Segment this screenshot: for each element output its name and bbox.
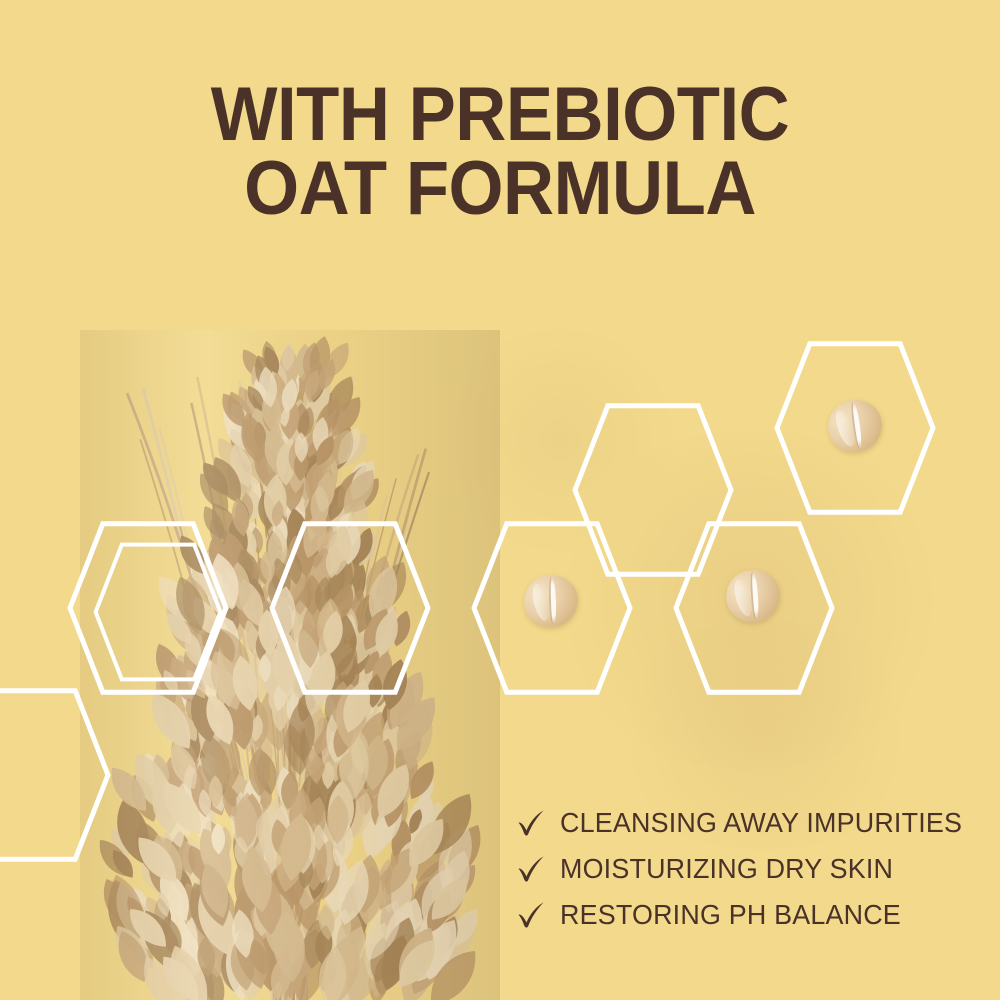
oat-spikelet	[166, 906, 194, 958]
oat-spikelet	[432, 879, 471, 927]
oat-spikelet	[295, 451, 324, 503]
oat-spikelet	[285, 653, 308, 695]
oat-spikelet	[313, 824, 325, 851]
oat-spikelet	[264, 451, 282, 480]
oat-spikelet	[304, 718, 329, 766]
oat-spikelet	[237, 844, 277, 915]
oat-spikelet	[292, 558, 317, 597]
oat-spikelet	[282, 435, 311, 484]
oat-spikelet	[355, 895, 410, 967]
oat-spikelet	[360, 553, 395, 609]
oat-spikelet	[272, 385, 293, 423]
oat-spikelet	[359, 919, 397, 982]
oat-stem	[231, 593, 286, 1000]
oat-spikelet	[429, 906, 486, 975]
oat-spikelet	[301, 421, 326, 460]
oat-spikelet	[228, 702, 247, 731]
oat-spikelet	[227, 561, 251, 611]
oat-spikelet	[219, 694, 248, 738]
oat-spikelet	[322, 802, 339, 830]
oat-spikelet	[270, 500, 285, 528]
oat-spikelet	[296, 414, 311, 442]
oat-spikelet	[268, 388, 283, 417]
oat-spikelet	[300, 433, 318, 467]
oat-spikelet	[240, 527, 259, 559]
oat-spikelet	[149, 640, 188, 694]
oat-spikelet	[292, 418, 308, 450]
oat-spikelet	[283, 533, 315, 591]
oat-spikelet	[268, 861, 296, 924]
oat-spikelet	[240, 492, 254, 521]
oat-spikelet	[135, 858, 167, 896]
oat-stem	[279, 479, 397, 1000]
oat-spikelet	[192, 610, 235, 664]
oat-spikelet	[178, 670, 206, 720]
oat-spikelet	[281, 510, 299, 549]
oat-spikelet	[186, 799, 217, 846]
oat-spikelet	[389, 921, 443, 989]
oat-spikelet	[329, 714, 359, 761]
oat-spikelet	[274, 634, 303, 692]
oat-spikelet	[314, 524, 342, 566]
oat-spikelet	[354, 864, 386, 926]
oat-spikelet	[224, 691, 256, 751]
oat-spikelet	[364, 638, 390, 676]
oat-spikelet	[328, 465, 369, 522]
oat-spikelet	[366, 755, 396, 804]
oat-spikelet	[312, 514, 342, 559]
oat-spikelet	[314, 437, 331, 465]
oat-spikelet	[288, 825, 302, 856]
oat-spikelet	[336, 428, 374, 471]
oat-spikelet	[324, 424, 359, 475]
oat-spikelet	[194, 547, 227, 604]
oat-spikelet	[268, 624, 293, 674]
oat-spikelet	[298, 827, 337, 903]
oat-spikelet	[339, 802, 368, 844]
oat-spikelet	[280, 654, 309, 706]
oat-spikelet	[325, 523, 355, 578]
oat-spikelet	[154, 775, 211, 841]
oat-spikelet	[283, 585, 313, 643]
oat-spikelet	[321, 509, 362, 565]
oat-spikelet	[251, 917, 287, 992]
oat-spikelet	[373, 774, 410, 821]
oat-spikelet	[218, 782, 247, 827]
oat-spikelet	[256, 797, 290, 865]
hexagon-bottom-left-clipped	[0, 691, 108, 859]
oat-spikelet	[211, 936, 248, 996]
oat-spikelet	[280, 525, 304, 571]
oat-stem	[304, 622, 395, 1000]
oat-spikelet	[186, 690, 239, 760]
oat-spikelet	[263, 857, 282, 893]
oat-spikelet	[331, 639, 347, 672]
oat-spikelet	[310, 485, 329, 528]
oat-spikelet	[370, 607, 403, 659]
oat-spikelet	[302, 694, 315, 723]
oat-spikelet	[161, 707, 191, 750]
oat-spikelet	[376, 913, 423, 984]
oat-spikelet	[329, 578, 344, 607]
oat-spikelet	[251, 600, 275, 651]
oat-spikelet	[235, 547, 257, 584]
oat-spikelet	[274, 647, 303, 701]
oat-spikelet	[227, 937, 258, 993]
oat-spikelet	[328, 908, 354, 954]
oat-spikelet	[291, 817, 316, 874]
oat-spikelet	[169, 938, 223, 1000]
oat-spikelet	[250, 889, 277, 939]
oat-spikelet	[193, 860, 236, 930]
oat-spikelet	[268, 556, 295, 602]
oat-spikelet	[258, 408, 280, 445]
oat-spikelet	[110, 795, 157, 868]
oat-spikelet	[139, 892, 176, 938]
oat-spikelet	[400, 812, 453, 874]
oat-spikelet	[348, 525, 378, 569]
oat-spikelet	[348, 713, 371, 743]
oat-spikelet	[372, 866, 398, 913]
oat-grain-center	[519, 569, 584, 633]
oat-spikelet	[408, 879, 436, 925]
oat-spikelet	[357, 772, 393, 819]
oat-spikelet	[357, 637, 376, 668]
oat-spikelet	[149, 752, 172, 791]
oat-spikelet	[320, 671, 358, 736]
oat-spikelet	[208, 775, 223, 807]
oat-spikelet	[236, 436, 257, 468]
oat-spikelet	[202, 580, 230, 619]
oat-spikelet	[197, 732, 229, 791]
oat-spikelet	[372, 952, 396, 997]
oat-spikelet	[346, 473, 386, 518]
oat-spikelet	[302, 703, 328, 748]
oat-spikelet	[218, 409, 258, 457]
oat-spikelet	[289, 824, 304, 852]
oat-stem	[278, 377, 353, 1000]
oat-spikelet	[157, 914, 186, 960]
oat-spikelet	[188, 881, 246, 962]
oat-spikelet	[284, 512, 311, 564]
oat-spikelet	[344, 456, 382, 504]
oat-spikelet	[245, 489, 263, 521]
oat-spikelet	[203, 895, 225, 937]
oat-spikelet	[259, 550, 276, 584]
oat-spikelet	[174, 708, 203, 745]
oat-spikelet	[254, 368, 279, 404]
oat-spikelet	[358, 712, 381, 758]
oat-spikelet	[148, 773, 183, 836]
oat-spikelet	[384, 752, 421, 803]
oat-spikelet	[285, 692, 305, 732]
oat-spikelet	[288, 441, 306, 474]
oat-spikelet	[224, 765, 247, 814]
oat-spikelet	[215, 628, 239, 664]
oat-spikelet	[334, 759, 366, 826]
oat-spikelet	[321, 695, 362, 766]
oat-spikelet	[185, 634, 204, 664]
oat-spikelet	[298, 825, 328, 891]
oat-spikelet	[268, 527, 287, 572]
oat-spikelet	[233, 880, 267, 953]
oat-spikelet	[221, 601, 249, 643]
oat-spikelet	[284, 507, 310, 555]
oat-spikelet	[246, 937, 272, 978]
list-item: MOISTURIZING DRY SKIN	[516, 846, 986, 892]
oat-spikelet	[232, 810, 265, 883]
oat-spikelet	[316, 945, 349, 1000]
oat-spikelet	[206, 652, 229, 682]
oat-spikelet	[310, 506, 334, 545]
oat-spikelet	[419, 786, 483, 863]
oat-stem	[267, 538, 282, 1000]
oat-spikelet	[316, 598, 343, 656]
oat-spikelet	[221, 456, 258, 508]
oat-spikelet	[234, 928, 269, 1000]
oat-spikelet	[310, 456, 336, 505]
oat-spikelet	[178, 618, 226, 684]
oat-spikelet	[356, 604, 395, 655]
oat-stem	[277, 556, 295, 1000]
oat-spikelet	[351, 591, 380, 636]
oat-spikelet	[122, 901, 174, 954]
oat-spikelet	[388, 726, 428, 778]
oat-spikelet	[306, 649, 340, 708]
oat-spikelet	[375, 691, 407, 735]
oat-spikelet	[314, 506, 335, 539]
oat-spikelet	[429, 922, 455, 963]
oat-spikelet	[166, 789, 190, 829]
oat-spikelet	[360, 648, 383, 677]
oat-spikelet	[363, 943, 388, 976]
benefit-label: RESTORING PH BALANCE	[560, 899, 901, 931]
oat-spikelet	[243, 608, 275, 666]
oat-spikelet	[128, 816, 173, 883]
oat-spikelet	[332, 423, 367, 468]
oat-spikelet	[294, 659, 312, 699]
oat-spikelet	[216, 689, 235, 718]
oat-spikelet	[299, 494, 322, 529]
oat-spikelet	[381, 879, 398, 913]
oat-stem	[260, 431, 292, 1000]
oat-spikelet	[331, 941, 348, 976]
oat-spikelet	[245, 615, 267, 659]
oat-spikelet	[401, 790, 441, 852]
oat-spikelet	[259, 544, 285, 600]
oat-spikelet	[284, 696, 302, 727]
oat-spikelet	[360, 921, 418, 1000]
oat-spikelet	[273, 600, 303, 656]
oat-spikelet	[182, 841, 217, 888]
oat-spikelet	[352, 668, 398, 738]
hexagon-over-oats	[272, 524, 428, 692]
oat-spikelet	[336, 557, 357, 591]
oat-spikelet	[312, 564, 332, 595]
oat-spikelet	[349, 638, 372, 677]
oat-spikelet	[367, 556, 415, 619]
oat-spikelet	[382, 787, 411, 838]
oat-spikelet	[232, 688, 258, 734]
oat-spikelet	[292, 581, 310, 623]
oat-spikelet	[282, 935, 305, 984]
oat-spikelet	[438, 859, 482, 908]
oat-spikelet	[336, 585, 371, 635]
oat-spikelet	[164, 738, 205, 794]
oat-spikelet	[302, 537, 321, 579]
oat-spikelet	[186, 685, 222, 745]
oat-spikelet	[335, 683, 365, 749]
oat-spikelet	[286, 400, 310, 439]
oat-spikelet	[273, 611, 296, 657]
oat-spikelet	[291, 618, 314, 657]
list-item: CLEANSING AWAY IMPURITIES	[516, 800, 986, 846]
oat-stem	[140, 439, 277, 1000]
oat-spikelet	[321, 717, 349, 781]
oat-spikelet	[257, 609, 280, 656]
oat-spikelet	[194, 904, 233, 979]
oat-spikelet	[328, 822, 358, 869]
oat-spikelet	[227, 909, 249, 957]
oat-spikelet	[286, 673, 313, 733]
oat-spikelet	[258, 654, 272, 683]
oat-spikelet	[270, 361, 293, 402]
oat-spikelet	[338, 936, 389, 1000]
oat-spikelet	[298, 660, 322, 703]
oat-spikelet	[218, 591, 243, 636]
oat-spikelet	[280, 342, 296, 372]
oat-spikelet	[273, 509, 287, 540]
oat-spikelet	[125, 932, 160, 974]
oat-spikelet	[412, 903, 450, 960]
oat-spikelet	[173, 531, 212, 579]
oat-spikelet	[205, 534, 231, 578]
oat-spikelet	[233, 792, 259, 849]
oat-spikelet	[161, 608, 197, 649]
oat-spikelet	[401, 710, 425, 746]
oat-spikelet	[293, 448, 309, 482]
oat-spikelet	[434, 847, 476, 912]
oat-spikelet	[255, 811, 271, 843]
oat-spikelet	[249, 387, 270, 420]
oat-spikelet	[424, 907, 469, 971]
oat-spikelet	[281, 413, 297, 442]
oat-stem	[297, 495, 387, 1000]
oat-spikelet	[377, 843, 420, 900]
oat-spikelet	[184, 627, 216, 682]
oat-stem	[159, 427, 281, 1000]
oat-spikelet	[256, 365, 279, 408]
oat-spikelet	[282, 855, 306, 906]
oat-spikelet	[169, 863, 198, 903]
oat-spikelet	[233, 499, 251, 533]
oat-spikelet	[128, 885, 153, 922]
oat-spikelet	[276, 961, 298, 1000]
oat-stem	[274, 604, 390, 1000]
oat-spikelet	[373, 925, 412, 990]
oat-spikelet	[191, 620, 227, 677]
oat-spikelet	[181, 877, 233, 951]
oat-spikelet	[253, 805, 286, 876]
oat-spikelet	[339, 522, 364, 566]
oat-spikelet	[266, 592, 285, 631]
oat-spikelet	[322, 554, 359, 612]
oat-spikelet	[380, 666, 432, 735]
oat-spikelet	[244, 646, 272, 701]
oat-spikelet	[334, 765, 369, 822]
poster-canvas: WITH PREBIOTIC OAT FORMULA	[0, 0, 1000, 1000]
oat-grain-lower-right	[720, 564, 786, 629]
oat-spikelet	[245, 797, 266, 835]
oat-spikelet	[388, 895, 428, 959]
oat-spikelet	[335, 464, 382, 520]
oat-spikelet	[443, 904, 485, 953]
oat-spikelet	[271, 823, 312, 895]
oat-spikelet	[249, 378, 272, 410]
oat-spikelet	[270, 917, 285, 947]
benefit-label: MOISTURIZING DRY SKIN	[560, 853, 893, 885]
oat-stem	[293, 463, 332, 1000]
oat-spikelet	[142, 908, 169, 947]
oat-spikelet	[329, 680, 353, 727]
oat-spikelet	[312, 838, 338, 885]
oat-spikelet	[279, 345, 299, 389]
oat-spikelet	[206, 561, 233, 599]
oat-spikelet	[342, 627, 359, 660]
oat-spikelet	[291, 628, 324, 691]
oat-spikelet	[317, 559, 334, 596]
oat-spikelet	[246, 958, 264, 988]
oat-spikelet	[238, 552, 255, 588]
oat-spikelet	[305, 371, 331, 418]
oat-spikelet	[214, 731, 241, 793]
oat-spikelet	[286, 840, 299, 868]
oat-spikelet	[272, 632, 301, 695]
oat-stem	[283, 487, 357, 1000]
oat-spikelet	[194, 619, 239, 677]
oat-spikelet	[286, 398, 311, 449]
oat-stem	[285, 549, 371, 1000]
hexagon-upper-middle	[575, 406, 731, 574]
oat-spikelet	[406, 807, 426, 836]
oat-spikelet	[374, 931, 415, 994]
oat-spikelet	[166, 791, 186, 824]
oat-spikelet	[197, 569, 229, 617]
oat-spikelet	[154, 949, 208, 1000]
oat-spikelet	[317, 404, 348, 443]
oat-spikelet	[277, 606, 300, 653]
oat-spikelet	[335, 641, 356, 680]
oat-spikelet	[307, 754, 319, 781]
oat-spikelet	[315, 600, 334, 629]
oat-spikelet	[160, 940, 218, 1000]
oat-spikelet	[367, 935, 394, 984]
oat-spikelet	[282, 717, 312, 777]
oat-spikelet	[318, 338, 355, 383]
oat-spikelet	[319, 822, 349, 874]
oat-spikelet	[151, 896, 174, 936]
oat-stem	[299, 449, 426, 1000]
oat-spikelet	[431, 913, 463, 959]
oat-spikelet	[311, 504, 337, 541]
oat-spikelet	[299, 378, 322, 414]
oat-spikelet	[318, 542, 333, 573]
oat-spikelet	[392, 692, 419, 732]
oat-spikelet	[308, 749, 328, 784]
oat-spikelet	[378, 657, 412, 713]
oat-spikelet	[379, 867, 421, 933]
oat-spikelet	[159, 667, 182, 696]
